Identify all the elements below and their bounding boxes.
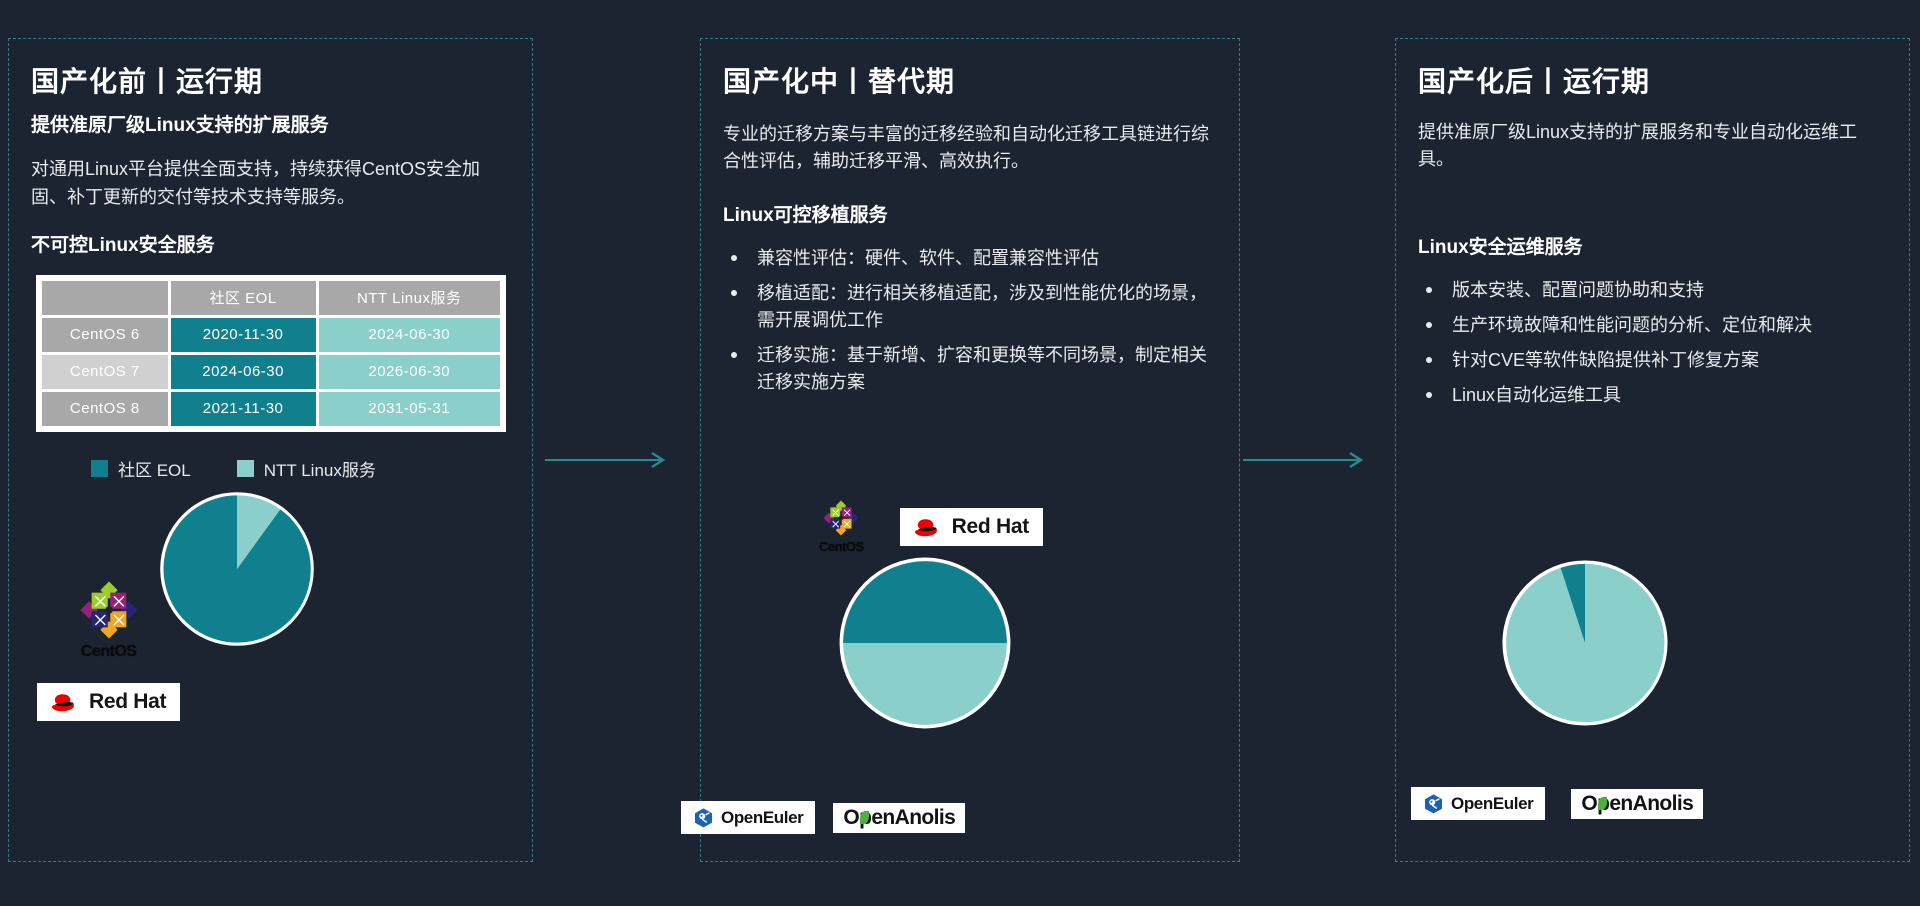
panel-section-heading: 不可控Linux安全服务 [31, 234, 508, 259]
list-item: 生产环境故障和性能问题的分析、定位和解决 [1418, 312, 1885, 339]
table-row: CentOS 7 2024-06-30 2026-06-30 [42, 355, 500, 389]
legend-swatch-icon [237, 460, 254, 477]
pie-chart-panel-3 [1499, 557, 1671, 734]
table-cell-os: CentOS 6 [42, 318, 168, 352]
pie-chart-panel-1 [157, 489, 317, 654]
panel-body-text: 提供准原厂级Linux支持的扩展服务和专业自动化运维工具。 [1418, 119, 1885, 175]
pie-chart-panel-2 [836, 554, 1014, 737]
list-item: 移植适配：进行相关移植适配，涉及到性能优化的场景，需开展调优工作 [723, 280, 1215, 334]
legend-label: 社区 EOL [118, 456, 191, 481]
redhat-logo-icon [910, 515, 944, 539]
centos-logo-label: CentOS [819, 539, 864, 554]
panel-section-heading: Linux安全运维服务 [1418, 236, 1885, 261]
panel-title: 国产化后丨运行期 [1418, 65, 1885, 99]
centos-logo-icon [822, 499, 860, 537]
arrow-right-icon [1243, 450, 1368, 470]
list-item: Linux自动化运维工具 [1418, 382, 1885, 409]
openanolis-logo: OpenAnolis [1571, 789, 1703, 819]
openeuler-logo-icon [693, 807, 714, 828]
logo-group-target-os: OpenEuler OpenAnolis [1411, 787, 1703, 820]
arrow-right-icon [545, 450, 670, 470]
table-cell-eol: 2020-11-30 [171, 318, 316, 352]
list-item: 兼容性评估：硬件、软件、配置兼容性评估 [723, 245, 1215, 272]
panel-bullet-list: 版本安装、配置问题协助和支持 生产环境故障和性能问题的分析、定位和解决 针对CV… [1418, 277, 1885, 409]
redhat-logo-label: Red Hat [89, 690, 166, 714]
table-header-row: 社区 EOL NTT Linux服务 [42, 281, 500, 315]
legend-item-ntt-service: NTT Linux服务 [237, 456, 376, 481]
table-header-community-eol: 社区 EOL [171, 281, 316, 315]
eol-table: 社区 EOL NTT Linux服务 CentOS 6 2020-11-30 2… [36, 275, 506, 432]
panel-bullet-list: 兼容性评估：硬件、软件、配置兼容性评估 移植适配：进行相关移植适配，涉及到性能优… [723, 245, 1215, 396]
panel-during-localization: 国产化中丨替代期 专业的迁移方案与丰富的迁移经验和自动化迁移工具链进行综合性评估… [700, 38, 1240, 862]
redhat-logo: Red Hat [900, 508, 1043, 546]
table-header-blank [42, 281, 168, 315]
redhat-logo-label: Red Hat [952, 515, 1029, 539]
legend-label: NTT Linux服务 [264, 456, 376, 481]
panel-before-localization: 国产化前丨运行期 提供准原厂级Linux支持的扩展服务 对通用Linux平台提供… [8, 38, 533, 862]
openeuler-logo-icon [1423, 793, 1444, 814]
openeuler-logo-label: OpenEuler [721, 808, 803, 828]
legend-swatch-icon [91, 460, 108, 477]
legend-item-community-eol: 社区 EOL [91, 456, 191, 481]
openeuler-logo: OpenEuler [1411, 787, 1545, 820]
centos-logo: CentOS [819, 499, 864, 554]
pie-chart-icon [836, 554, 1014, 732]
panel-title: 国产化中丨替代期 [723, 65, 1215, 99]
arrow-connector-1 [545, 450, 670, 475]
openeuler-logo: OpenEuler [681, 801, 815, 834]
pie-chart-icon [157, 489, 317, 649]
panel-after-localization: 国产化后丨运行期 提供准原厂级Linux支持的扩展服务和专业自动化运维工具。 L… [1395, 38, 1910, 862]
panel-title: 国产化前丨运行期 [31, 65, 508, 99]
panel-section-heading: Linux可控移植服务 [723, 204, 1215, 229]
table-row: CentOS 8 2021-11-30 2031-05-31 [42, 392, 500, 426]
table-cell-os: CentOS 7 [42, 355, 168, 389]
table-row: CentOS 6 2020-11-30 2024-06-30 [42, 318, 500, 352]
panel-body-text: 对通用Linux平台提供全面支持，持续获得CentOS安全加固、补丁更新的交付等… [31, 156, 508, 212]
list-item: 版本安装、配置问题协助和支持 [1418, 277, 1885, 304]
table-cell-eol: 2021-11-30 [171, 392, 316, 426]
arrow-connector-2 [1243, 450, 1368, 475]
centos-logo-label: CentOS [81, 643, 137, 661]
table-cell-os: CentOS 8 [42, 392, 168, 426]
pie-chart-icon [1499, 557, 1671, 729]
pie-legend: 社区 EOL NTT Linux服务 [91, 456, 508, 481]
table-cell-ntt: 2031-05-31 [319, 392, 500, 426]
table-cell-ntt: 2024-06-30 [319, 318, 500, 352]
centos-logo-icon [78, 579, 140, 641]
openanolis-logo-label: OpenAnolis [1581, 792, 1693, 816]
openeuler-logo-label: OpenEuler [1451, 794, 1533, 814]
logo-group-source-os: CentOS Red Hat [819, 499, 1043, 554]
table-cell-eol: 2024-06-30 [171, 355, 316, 389]
logo-group-target-os: OpenEuler OpenAnolis [681, 801, 965, 834]
redhat-logo-icon [47, 690, 81, 714]
openanolis-logo: OpenAnolis [833, 803, 965, 833]
table-header-ntt-service: NTT Linux服务 [319, 281, 500, 315]
redhat-logo: Red Hat [37, 683, 180, 721]
panel-subtitle: 提供准原厂级Linux支持的扩展服务 [31, 113, 508, 139]
table-cell-ntt: 2026-06-30 [319, 355, 500, 389]
panel-body-text: 专业的迁移方案与丰富的迁移经验和自动化迁移工具链进行综合性评估，辅助迁移平滑、高… [723, 121, 1215, 177]
slide-canvas: 国产化前丨运行期 提供准原厂级Linux支持的扩展服务 对通用Linux平台提供… [0, 0, 1920, 906]
list-item: 针对CVE等软件缺陷提供补丁修复方案 [1418, 347, 1885, 374]
openanolis-logo-label: OpenAnolis [843, 806, 955, 830]
list-item: 迁移实施：基于新增、扩容和更换等不同场景，制定相关迁移实施方案 [723, 342, 1215, 396]
